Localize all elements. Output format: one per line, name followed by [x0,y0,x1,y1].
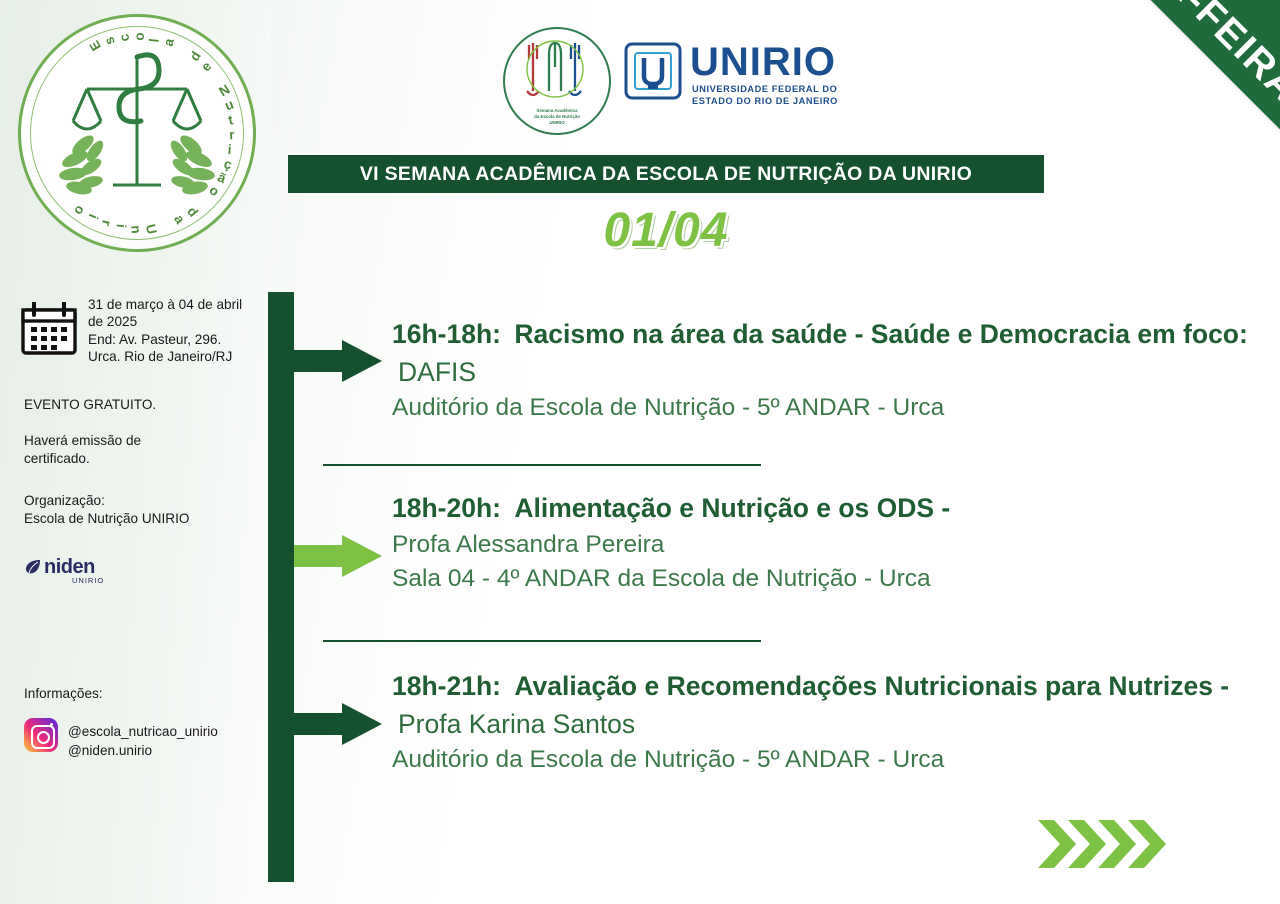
event-1-speaker: DAFIS [398,357,476,387]
event-2-speaker: Profa Alessandra Pereira [392,528,1222,562]
event-3-speaker: Profa Karina Santos [398,709,635,739]
event-item-1: 16h-18h: Racismo na área da saúde - Saúd… [392,316,1264,426]
free-event-note: EVENTO GRATUITO. [24,396,156,414]
organization-note: Organização: Escola de Nutrição UNIRIO [24,492,194,527]
seal-text-char: t [227,112,235,128]
niden-leaf-icon [24,558,42,576]
event-3-headline: 18h-21h: Avaliação e Recomendações Nutri… [392,668,1232,743]
event-dates-and-address: 31 de março à 04 de abril de 2025 End: A… [88,296,253,366]
seal-text: Escola de Nutrição da Unirio [21,17,253,249]
instagram-handle-1: @escola_nutricao_unirio [68,722,218,741]
instagram-lens [37,731,50,744]
seal-text-char: a [171,212,188,226]
event-title-bar: VI SEMANA ACADÊMICA DA ESCOLA DE NUTRIÇÃ… [288,155,1044,193]
contact-label: Informações: [24,686,103,701]
seal-text-char: n [128,225,144,234]
seal-text-char: U [143,223,160,236]
event-2-headline: 18h-20h: Alimentação e Nutrição e os ODS… [392,490,1222,528]
timeline-vertical-bar [268,292,294,882]
unirio-mark-icon [622,40,684,102]
instagram-dot [50,723,53,726]
event-1-headline: 16h-18h: Racismo na área da saúde - Saúd… [392,316,1264,391]
calendar-icon [20,302,78,356]
weekday-corner-banner: TERÇA-FEIRA [1016,0,1280,170]
seal-text-char: u [223,96,236,113]
seal-text-char: l [146,38,161,43]
event-1-location: Auditório da Escola de Nutrição - 5º AND… [392,391,1264,425]
seal-text-char: o [132,32,147,41]
event-3-location: Auditório da Escola de Nutrição - 5º AND… [392,743,1232,777]
certificate-note: Haverá emissão de certificado. [24,432,174,467]
address-line-2: Urca. Rio de Janeiro/RJ [88,348,253,365]
hands-fork-icon [505,29,605,107]
escola-de-nutricao-seal: Escola de Nutrição da Unirio [18,14,256,252]
event-2-location: Sala 04 - 4º ANDAR da Escola de Nutrição… [392,562,1222,596]
event-date-heading: 01/04 [288,203,1044,258]
event-date-range: 31 de março à 04 de abril de 2025 [88,296,253,331]
unirio-logo: UNIRIO UNIVERSIDADE FEDERAL DO ESTADO DO… [622,38,872,112]
weekday-label: TERÇA-FEIRA [1067,0,1280,119]
seal-text-char: i [114,223,129,228]
seal-text-char: o [71,203,88,218]
seal-text-char: e [198,59,214,75]
seal-text-char: r [99,219,115,228]
section-divider-1 [323,464,761,466]
instagram-icon[interactable] [24,718,58,752]
event-2-title: Alimentação e Nutrição e os ODS - [514,493,950,523]
niden-subtitle: UNIRIO [72,576,104,585]
unirio-wordmark: UNIRIO [690,40,836,85]
page-title: VI SEMANA ACADÊMICA DA ESCOLA DE NUTRIÇÃ… [360,163,972,186]
niden-logo: niden UNIRIO [24,556,134,588]
seal-text-char: r [229,127,235,142]
seal-text-char: o [207,182,222,199]
chevrons-decoration-icon [1038,816,1188,872]
event-3-title: Avaliação e Recomendações Nutricionais p… [514,671,1229,701]
unirio-subtitle-2: ESTADO DO RIO DE JANEIRO [692,96,838,106]
semana-logo-caption: Semana Acadêmicada Escola de NutriçãoUNI… [505,108,609,126]
seal-text-char: c [116,33,132,43]
address-line-1: End: Av. Pasteur, 296. [88,331,253,348]
seal-text-char [157,218,172,227]
unirio-subtitle-1: UNIVERSIDADE FEDERAL DO [692,84,837,94]
event-1-title: Racismo na área da saúde - Saúde e Democ… [514,319,1247,349]
event-1-time: 16h-18h: [392,319,501,349]
section-divider-2 [323,640,761,642]
poster-canvas: TERÇA-FEIRA [0,0,1280,904]
instagram-handles: @escola_nutricao_unirio @niden.unirio [68,722,218,760]
event-item-2: 18h-20h: Alimentação e Nutrição e os ODS… [392,490,1222,596]
seal-text-char [196,194,209,208]
instagram-handle-2: @niden.unirio [68,741,218,760]
event-3-time: 18h-21h: [392,671,501,701]
seal-text-char: i [227,142,232,157]
event-2-time: 18h-20h: [392,493,501,523]
semana-academica-logo: Semana Acadêmicada Escola de NutriçãoUNI… [503,27,611,135]
event-item-3: 18h-21h: Avaliação e Recomendações Nutri… [392,668,1232,778]
seal-text-char: i [86,212,101,221]
